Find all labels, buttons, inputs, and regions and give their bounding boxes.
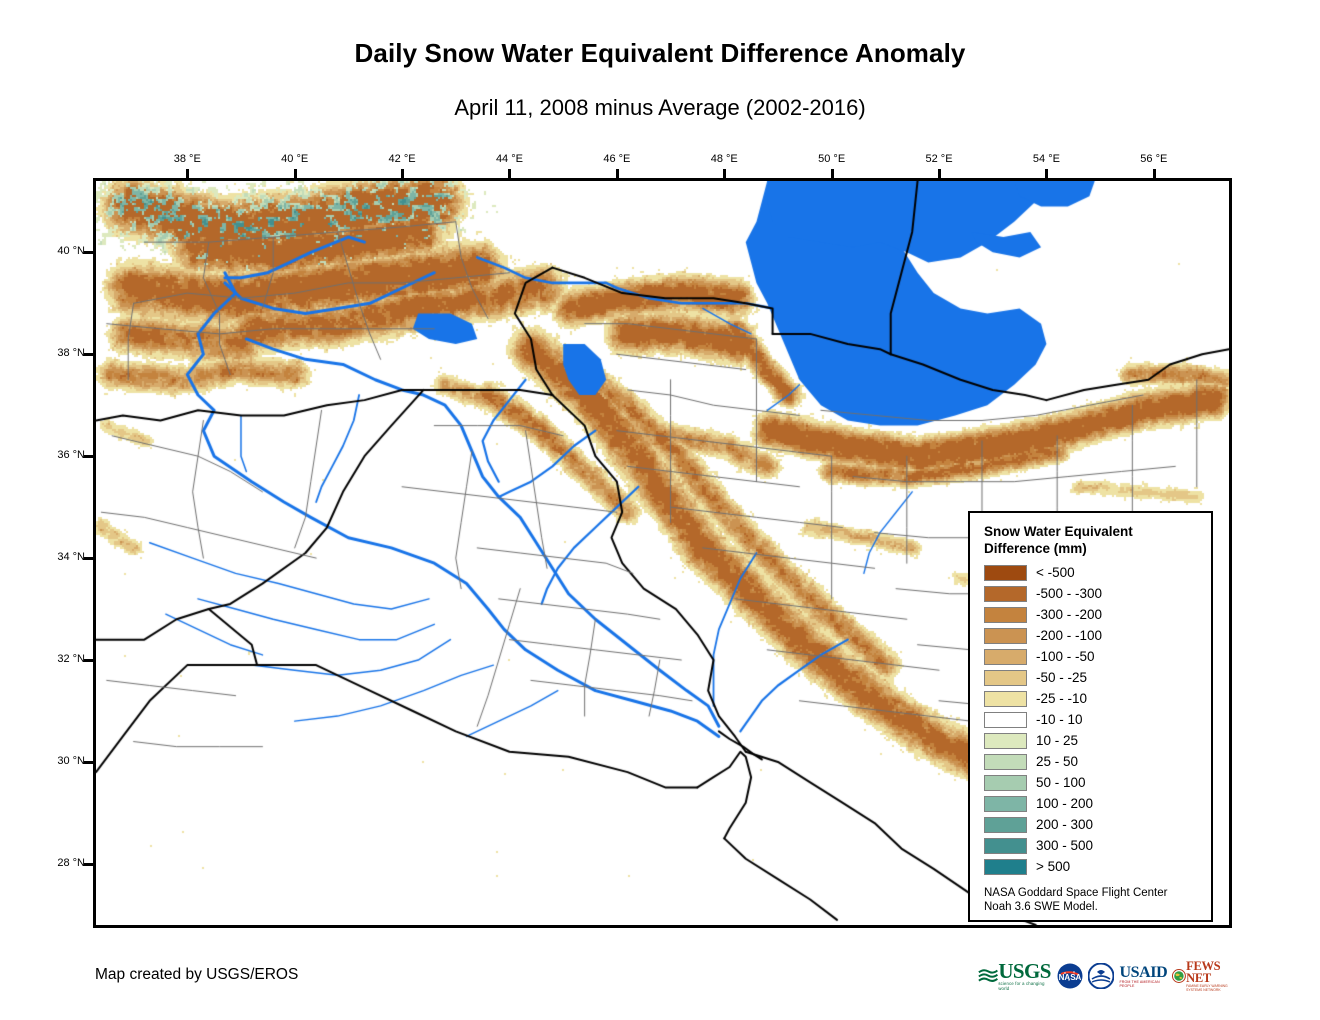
lat-tick: [84, 251, 93, 254]
lon-tick: [401, 169, 404, 178]
legend-swatch: [984, 775, 1027, 791]
lon-label: 54 °E: [1016, 153, 1076, 165]
page-subtitle: April 11, 2008 minus Average (2002-2016): [0, 95, 1320, 121]
lat-label: 38 °N: [25, 347, 85, 359]
legend-row: 100 - 200: [984, 793, 1211, 814]
usaid-logo-tagline: FROM THE AMERICAN PEOPLE: [1119, 980, 1167, 988]
lon-tick: [723, 169, 726, 178]
legend-label: 200 - 300: [1036, 817, 1093, 832]
usgs-wave-icon: [978, 968, 998, 985]
fewsnet-globe-icon: [1172, 964, 1186, 988]
legend-row: 25 - 50: [984, 751, 1211, 772]
legend-swatch: [984, 691, 1027, 707]
usgs-logo-text: USGS: [998, 962, 1052, 981]
lon-label: 48 °E: [694, 153, 754, 165]
nasa-logo: NASA: [1057, 963, 1083, 989]
legend-row: 50 - 100: [984, 772, 1211, 793]
lon-label: 40 °E: [265, 153, 325, 165]
legend-row: 300 - 500: [984, 835, 1211, 856]
page-title: Daily Snow Water Equivalent Difference A…: [0, 38, 1320, 69]
fewsnet-logo-text: FEWS NET: [1186, 960, 1230, 984]
lon-label: 56 °E: [1124, 153, 1184, 165]
legend-note-line1: NASA Goddard Space Flight Center: [984, 886, 1211, 900]
lon-label: 52 °E: [909, 153, 969, 165]
legend-title-line1: Snow Water Equivalent: [984, 523, 1211, 540]
legend-label: -200 - -100: [1036, 628, 1102, 643]
legend-swatch: [984, 628, 1027, 644]
legend-swatch: [984, 859, 1027, 875]
legend-swatch: [984, 733, 1027, 749]
usaid-logo-text: USAID: [1119, 965, 1167, 980]
noaa-seal-icon: [1088, 963, 1114, 989]
lon-tick: [294, 169, 297, 178]
legend-label: -25 - -10: [1036, 691, 1087, 706]
legend-label: -500 - -300: [1036, 586, 1102, 601]
lat-tick: [84, 659, 93, 662]
lon-label: 50 °E: [802, 153, 862, 165]
legend-label: 300 - 500: [1036, 838, 1093, 853]
legend-swatch: [984, 712, 1027, 728]
legend-title: Snow Water Equivalent Difference (mm): [984, 523, 1211, 557]
legend-row: < -500: [984, 562, 1211, 583]
fewsnet-logo-tagline: FAMINE EARLY WARNING SYSTEMS NETWORK: [1186, 984, 1230, 992]
legend-label: < -500: [1036, 565, 1075, 580]
lat-label: 28 °N: [25, 857, 85, 869]
legend-row: 200 - 300: [984, 814, 1211, 835]
lat-tick: [84, 455, 93, 458]
legend-swatch: [984, 670, 1027, 686]
lon-label: 44 °E: [479, 153, 539, 165]
legend-label: 50 - 100: [1036, 775, 1086, 790]
lon-tick: [508, 169, 511, 178]
lat-label: 34 °N: [25, 551, 85, 563]
lon-tick: [186, 169, 189, 178]
usaid-logo: USAID FROM THE AMERICAN PEOPLE: [1119, 965, 1167, 988]
lat-tick: [84, 863, 93, 866]
legend-label: -300 - -200: [1036, 607, 1102, 622]
lon-tick: [831, 169, 834, 178]
legend-label: > 500: [1036, 859, 1070, 874]
lon-label: 46 °E: [587, 153, 647, 165]
lat-label: 36 °N: [25, 449, 85, 461]
legend-row: -100 - -50: [984, 646, 1211, 667]
legend-label: 100 - 200: [1036, 796, 1093, 811]
legend-row: 10 - 25: [984, 730, 1211, 751]
lon-label: 38 °E: [157, 153, 217, 165]
legend-row: -300 - -200: [984, 604, 1211, 625]
svg-text:NASA: NASA: [1059, 973, 1082, 982]
legend-swatch: [984, 565, 1027, 581]
lat-label: 40 °N: [25, 245, 85, 257]
map-credit: Map created by USGS/EROS: [95, 966, 298, 984]
lat-tick: [84, 761, 93, 764]
lon-tick: [938, 169, 941, 178]
legend-swatch: [984, 754, 1027, 770]
usgs-logo: USGS science for a changing world: [978, 962, 1052, 991]
legend-swatch: [984, 817, 1027, 833]
legend-row: -25 - -10: [984, 688, 1211, 709]
lon-label: 42 °E: [372, 153, 432, 165]
legend-label: -50 - -25: [1036, 670, 1087, 685]
lat-label: 32 °N: [25, 653, 85, 665]
legend-attribution: NASA Goddard Space Flight Center Noah 3.…: [984, 886, 1211, 914]
map-legend: Snow Water Equivalent Difference (mm) < …: [968, 511, 1213, 922]
legend-label: 10 - 25: [1036, 733, 1078, 748]
lon-tick: [1153, 169, 1156, 178]
legend-label: 25 - 50: [1036, 754, 1078, 769]
legend-title-line2: Difference (mm): [984, 540, 1211, 557]
legend-swatch: [984, 586, 1027, 602]
legend-label: -100 - -50: [1036, 649, 1095, 664]
legend-swatch: [984, 796, 1027, 812]
legend-label: -10 - 10: [1036, 712, 1083, 727]
lon-tick: [616, 169, 619, 178]
legend-row: > 500: [984, 856, 1211, 877]
legend-swatch: [984, 649, 1027, 665]
usgs-logo-tagline: science for a changing world: [998, 981, 1052, 991]
lon-tick: [1045, 169, 1048, 178]
nasa-meatball-icon: NASA: [1057, 963, 1083, 989]
legend-row: -500 - -300: [984, 583, 1211, 604]
noaa-logo: [1088, 963, 1114, 989]
legend-note-line2: Noah 3.6 SWE Model.: [984, 900, 1211, 914]
legend-class-list: < -500-500 - -300-300 - -200-200 - -100-…: [984, 562, 1211, 877]
legend-row: -200 - -100: [984, 625, 1211, 646]
legend-row: -50 - -25: [984, 667, 1211, 688]
lat-label: 30 °N: [25, 755, 85, 767]
legend-swatch: [984, 838, 1027, 854]
legend-swatch: [984, 607, 1027, 623]
lat-tick: [84, 353, 93, 356]
logo-bar: USGS science for a changing world NASA U…: [978, 955, 1203, 997]
legend-row: -10 - 10: [984, 709, 1211, 730]
fewsnet-logo: FEWS NET FAMINE EARLY WARNING SYSTEMS NE…: [1172, 960, 1230, 992]
lat-tick: [84, 557, 93, 560]
